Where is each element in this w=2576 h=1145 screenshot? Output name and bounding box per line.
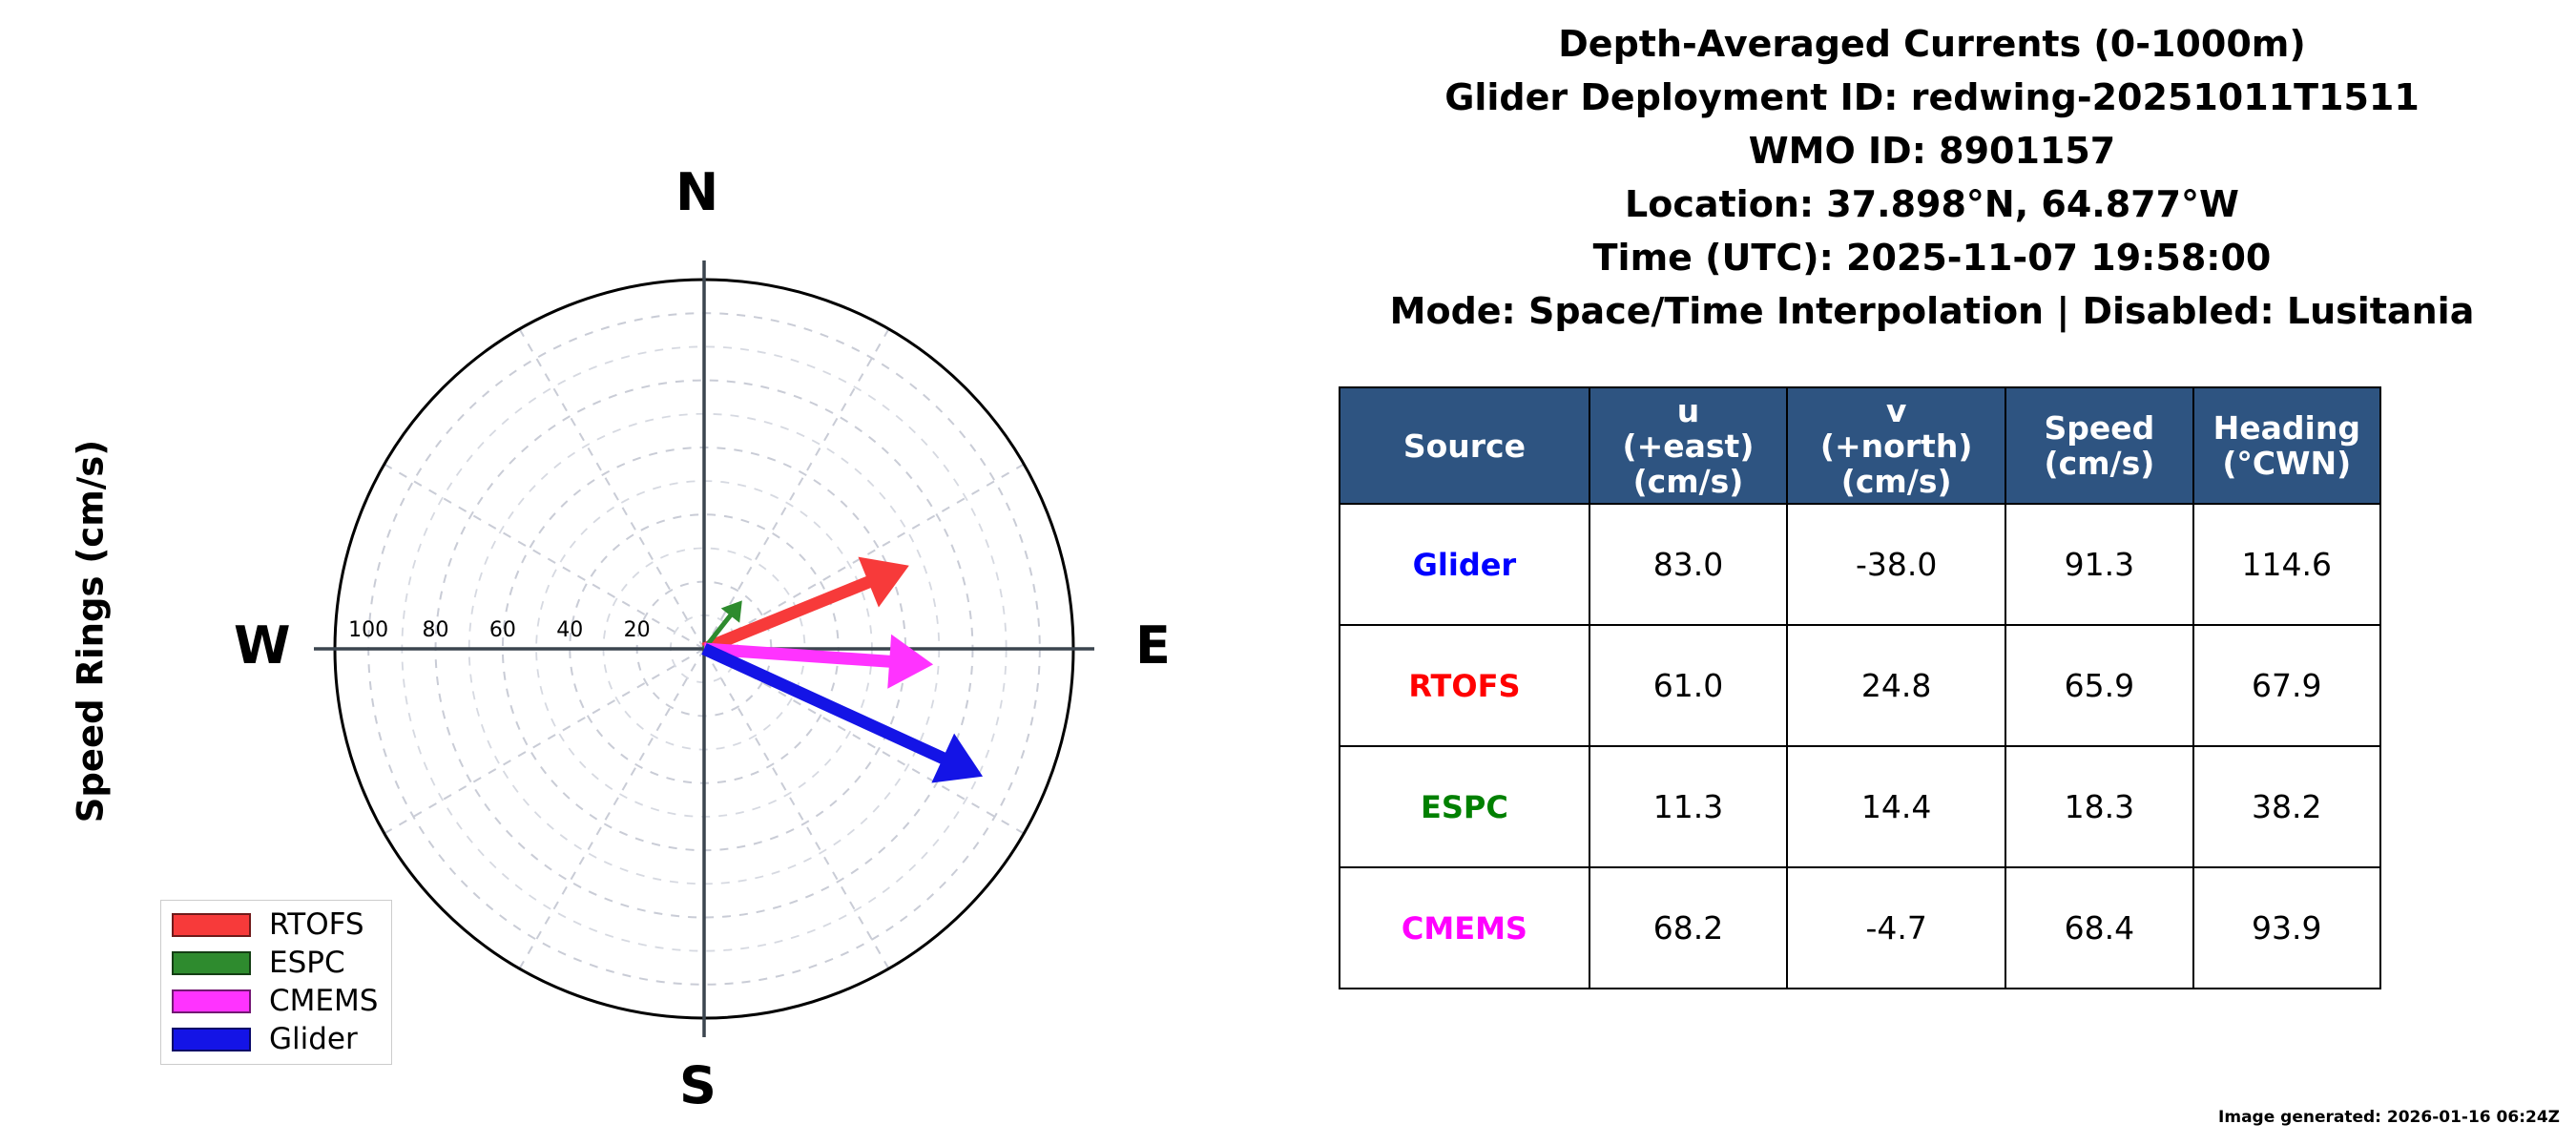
header-line: (cm/s): [2008, 446, 2190, 481]
table-col-header-2: v(+north)(cm/s): [1787, 387, 2005, 504]
compass-label-east: E: [1135, 620, 1171, 672]
plot-title-line-3: Location: 37.898°N, 64.877°W: [1288, 177, 2576, 231]
header-line: (+east): [1592, 428, 1784, 464]
table-row: CMEMS68.2-4.768.493.9: [1340, 867, 2380, 989]
header-line: (cm/s): [1790, 464, 2003, 499]
table-header-row: Sourceu(+east)(cm/s)v(+north)(cm/s)Speed…: [1340, 387, 2380, 504]
cell-source: ESPC: [1340, 746, 1589, 867]
cell-v: -4.7: [1787, 867, 2005, 989]
vector-rtofs: [704, 557, 909, 649]
header-line: v: [1790, 393, 2003, 428]
legend-item-espc[interactable]: ESPC: [172, 947, 378, 979]
cell-heading: 93.9: [2193, 867, 2380, 989]
cell-speed: 91.3: [2005, 504, 2192, 625]
cell-source: RTOFS: [1340, 625, 1589, 746]
cell-speed: 68.4: [2005, 867, 2192, 989]
polar-y-axis-label: Speed Rings (cm/s): [71, 364, 112, 899]
header-line: Heading: [2196, 410, 2378, 446]
header-line: (cm/s): [1592, 464, 1784, 499]
legend-label-espc: ESPC: [269, 948, 345, 978]
legend-item-glider[interactable]: Glider: [172, 1023, 378, 1055]
header-line: Speed: [2008, 410, 2190, 446]
table-header: Sourceu(+east)(cm/s)v(+north)(cm/s)Speed…: [1340, 387, 2380, 504]
image-generated-stamp: Image generated: 2026-01-16 06:24Z: [2218, 1108, 2560, 1127]
cell-heading: 38.2: [2193, 746, 2380, 867]
legend-swatch-cmems: [172, 989, 251, 1013]
figure-canvas: 10080604020 N S W E Speed Rings (cm/s) R…: [0, 0, 2576, 1145]
grid-spoke-210: [520, 649, 705, 968]
plot-title-line-2: WMO ID: 8901157: [1288, 124, 2576, 177]
cell-v: -38.0: [1787, 504, 2005, 625]
radial-tick-100: 100: [348, 618, 388, 642]
grid-spoke-30: [704, 329, 889, 649]
legend-label-rtofs: RTOFS: [269, 910, 364, 940]
grid-spoke-60: [704, 465, 1024, 650]
table-col-header-3: Speed(cm/s): [2005, 387, 2192, 504]
legend-item-cmems[interactable]: CMEMS: [172, 985, 378, 1017]
table-row: RTOFS61.024.865.967.9: [1340, 625, 2380, 746]
radial-tick-40: 40: [556, 618, 583, 642]
legend-label-cmems: CMEMS: [269, 987, 378, 1016]
table-col-header-1: u(+east)(cm/s): [1589, 387, 1787, 504]
cell-speed: 65.9: [2005, 625, 2192, 746]
plot-title-line-0: Depth-Averaged Currents (0-1000m): [1288, 17, 2576, 71]
plot-title: Depth-Averaged Currents (0-1000m)Glider …: [1288, 17, 2576, 338]
grid-spoke-240: [384, 649, 704, 834]
cell-heading: 67.9: [2193, 625, 2380, 746]
radial-tick-20: 20: [624, 618, 651, 642]
cell-u: 83.0: [1589, 504, 1787, 625]
plot-title-line-4: Time (UTC): 2025-11-07 19:58:00: [1288, 231, 2576, 284]
legend-swatch-glider: [172, 1028, 251, 1051]
info-panel: Depth-Averaged Currents (0-1000m)Glider …: [1288, 0, 2576, 1145]
plot-title-line-5: Mode: Space/Time Interpolation | Disable…: [1288, 284, 2576, 338]
table-row: ESPC11.314.418.338.2: [1340, 746, 2380, 867]
header-line: (+north): [1790, 428, 2003, 464]
header-line: Source: [1342, 428, 1587, 464]
grid-spoke-330: [520, 329, 705, 649]
compass-label-north: N: [675, 167, 718, 219]
legend-swatch-espc: [172, 951, 251, 975]
cell-heading: 114.6: [2193, 504, 2380, 625]
table-body: Glider83.0-38.091.3114.6RTOFS61.024.865.…: [1340, 504, 2380, 989]
compass-label-south: S: [679, 1060, 717, 1112]
header-line: u: [1592, 393, 1784, 428]
cell-u: 68.2: [1589, 867, 1787, 989]
legend-item-rtofs[interactable]: RTOFS: [172, 908, 378, 941]
plot-title-line-1: Glider Deployment ID: redwing-20251011T1…: [1288, 71, 2576, 124]
cell-source: Glider: [1340, 504, 1589, 625]
cell-source: CMEMS: [1340, 867, 1589, 989]
compass-label-west: W: [234, 620, 291, 672]
table-col-header-4: Heading(°CWN): [2193, 387, 2380, 504]
cell-u: 11.3: [1589, 746, 1787, 867]
polar-plot-panel: 10080604020 N S W E Speed Rings (cm/s) R…: [0, 0, 1288, 1145]
header-line: (°CWN): [2196, 446, 2378, 481]
table-row: Glider83.0-38.091.3114.6: [1340, 504, 2380, 625]
vector-glider: [704, 649, 983, 782]
cell-speed: 18.3: [2005, 746, 2192, 867]
cell-v: 14.4: [1787, 746, 2005, 867]
legend-swatch-rtofs: [172, 913, 251, 937]
current-vector-arrows: [704, 557, 983, 783]
cell-v: 24.8: [1787, 625, 2005, 746]
vector-head-cmems: [887, 635, 933, 689]
radial-tick-80: 80: [423, 618, 449, 642]
cell-u: 61.0: [1589, 625, 1787, 746]
polar-legend: RTOFSESPCCMEMSGlider: [160, 900, 392, 1065]
radial-tick-60: 60: [489, 618, 516, 642]
currents-table: Sourceu(+east)(cm/s)v(+north)(cm/s)Speed…: [1339, 386, 2381, 989]
legend-label-glider: Glider: [269, 1025, 358, 1054]
table-col-header-0: Source: [1340, 387, 1589, 504]
